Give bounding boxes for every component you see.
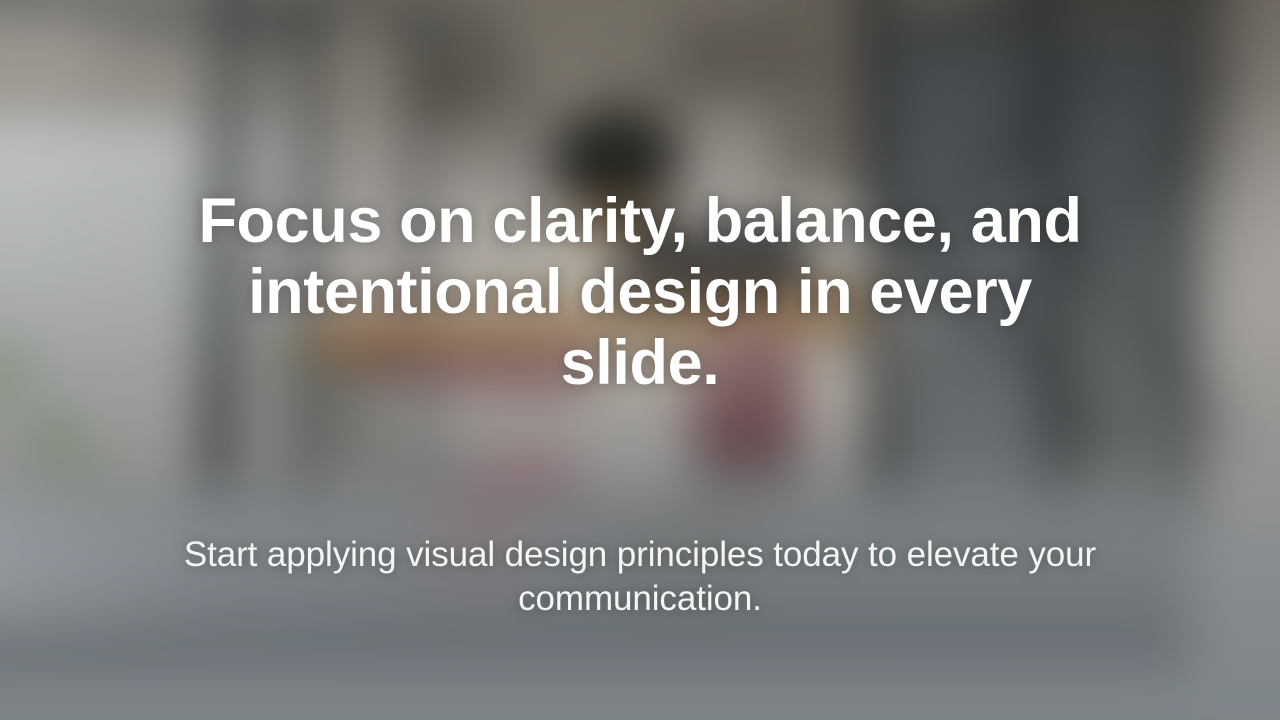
slide-subheadline: Start applying visual design principles … [180,399,1100,621]
slide-headline: Focus on clarity, balance, and intention… [170,0,1110,399]
presentation-slide: Focus on clarity, balance, and intention… [0,0,1280,720]
slide-content: Focus on clarity, balance, and intention… [0,0,1280,720]
